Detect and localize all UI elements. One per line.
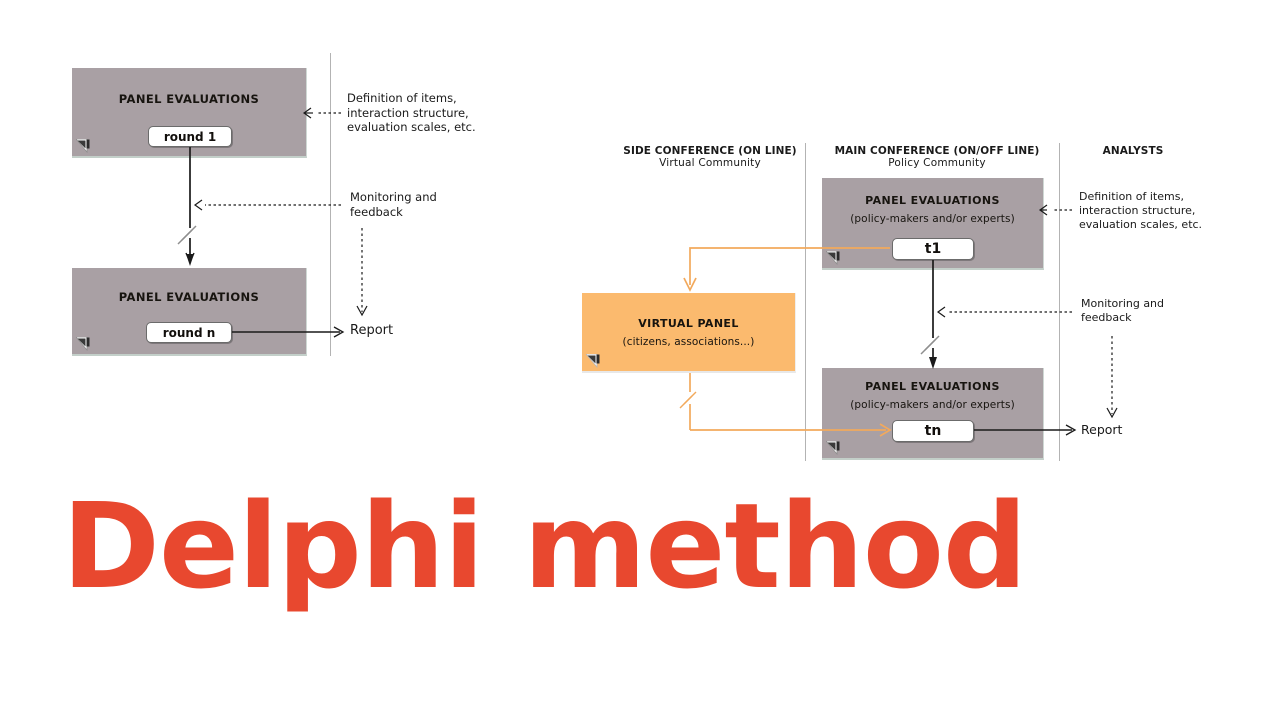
corner-fold-icon (826, 251, 842, 265)
left-diagram-classic-delphi: PANEL EVALUATIONS round 1 PANEL EVALUATI… (0, 0, 520, 400)
panel-virtual-subtitle: (citizens, associations...) (582, 336, 795, 348)
chip-tn[interactable]: tn (892, 420, 974, 442)
chip-round-1-label: round 1 (164, 130, 216, 144)
panel-t1-title: PANEL EVALUATIONS (822, 194, 1043, 207)
column-header-side-conference-sub: Virtual Community (600, 157, 820, 169)
chip-round-n[interactable]: round n (146, 322, 232, 343)
corner-fold-icon (76, 337, 92, 351)
panel-tn-subtitle: (policy-makers and/or experts) (822, 399, 1043, 411)
chip-round-1[interactable]: round 1 (148, 126, 232, 147)
panel-virtual[interactable]: VIRTUAL PANEL (citizens, associations...… (582, 293, 796, 373)
column-header-main-conference: MAIN CONFERENCE (ON/OFF LINE) Policy Com… (812, 145, 1062, 169)
note-monitoring-and-feedback: Monitoring and feedback (1081, 297, 1241, 325)
divider-main-analysts (1059, 143, 1060, 461)
arrow-monitoring-to-flow (195, 200, 341, 210)
panel-tn-title: PANEL EVALUATIONS (822, 380, 1043, 393)
column-header-analysts-main: ANALYSTS (1068, 145, 1198, 157)
panel-round-n-title: PANEL EVALUATIONS (72, 290, 306, 304)
arrow-definition-to-panel (304, 108, 341, 118)
column-header-analysts: ANALYSTS (1068, 145, 1198, 157)
corner-fold-icon (826, 441, 842, 455)
chip-t1-label: t1 (925, 241, 941, 257)
arrow-down-to-report (1107, 336, 1117, 417)
arrow-t1-to-tn (921, 260, 939, 369)
panel-virtual-title: VIRTUAL PANEL (582, 317, 795, 330)
arrow-round1-to-roundn (178, 147, 196, 266)
column-header-main-conference-main: MAIN CONFERENCE (ON/OFF LINE) (812, 145, 1062, 157)
arrow-monitoring-to-flow (938, 307, 1072, 317)
chip-round-n-label: round n (163, 326, 216, 340)
chip-t1[interactable]: t1 (892, 238, 974, 260)
panel-tn[interactable]: PANEL EVALUATIONS (policy-makers and/or … (822, 368, 1044, 460)
right-diagram-delphi-with-virtual-panel: SIDE CONFERENCE (ON LINE) Virtual Commun… (560, 0, 1260, 480)
page-title: Delphi method (62, 487, 1222, 605)
label-report: Report (1081, 422, 1122, 437)
corner-fold-icon (76, 139, 92, 153)
chip-tn-label: tn (925, 423, 942, 439)
panel-round-1-title: PANEL EVALUATIONS (72, 92, 306, 106)
column-header-side-conference-main: SIDE CONFERENCE (ON LINE) (600, 145, 820, 157)
note-definition-of-items: Definition of items, interaction structu… (1079, 190, 1244, 232)
divider-side-main (805, 143, 806, 461)
note-monitoring-and-feedback: Monitoring and feedback (350, 190, 510, 219)
left-column-divider (330, 53, 331, 356)
panel-t1-subtitle: (policy-makers and/or experts) (822, 213, 1043, 225)
note-definition-of-items: Definition of items, interaction structu… (347, 91, 512, 135)
arrow-down-to-report (357, 228, 367, 315)
corner-fold-icon (586, 354, 602, 368)
column-header-side-conference: SIDE CONFERENCE (ON LINE) Virtual Commun… (600, 145, 820, 169)
column-header-main-conference-sub: Policy Community (812, 157, 1062, 169)
arrow-definition-to-panel-t1 (1040, 205, 1072, 215)
label-report: Report (350, 323, 393, 338)
